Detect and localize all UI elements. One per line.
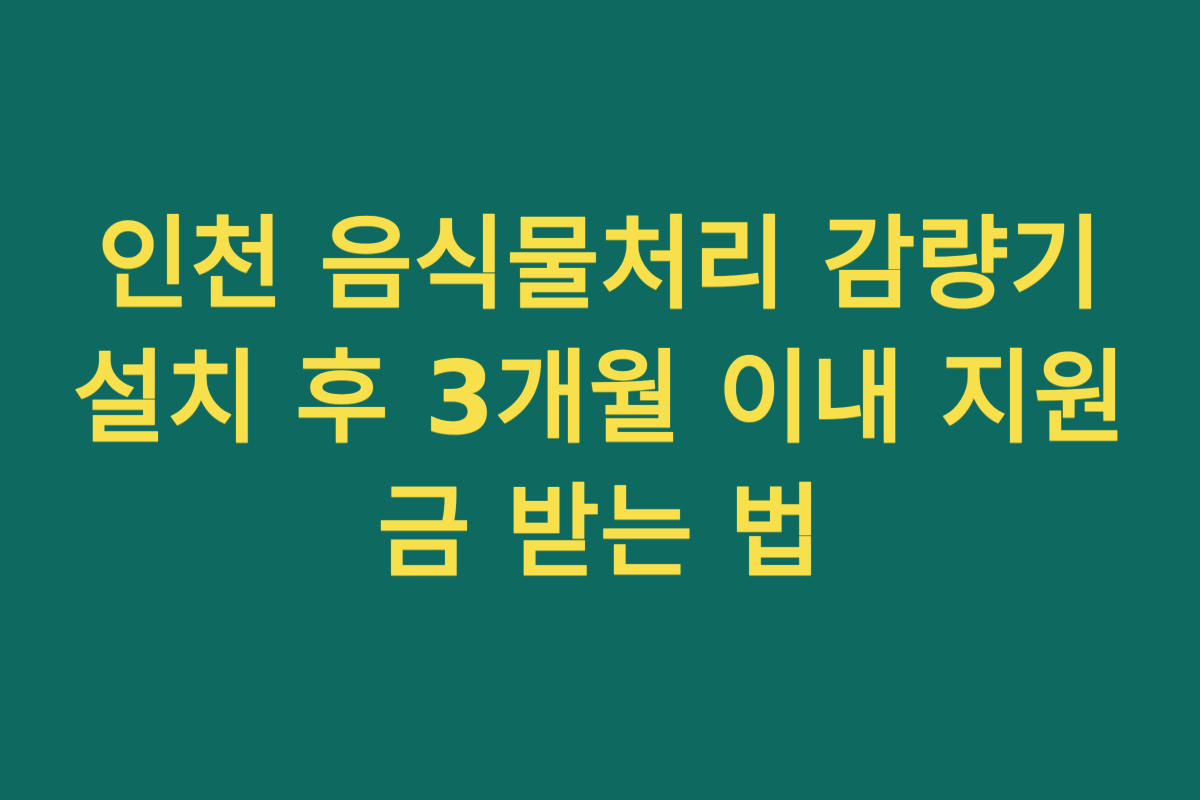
headline-line-1: 인천 음식물처리 감량기 (97, 197, 1103, 331)
thumbnail-card: 인천 음식물처리 감량기 설치 후 3개월 이내 지원 금 받는 법 (0, 0, 1200, 800)
headline-block: 인천 음식물처리 감량기 설치 후 3개월 이내 지원 금 받는 법 (60, 197, 1140, 600)
headline-line-2: 설치 후 3개월 이내 지원 (73, 331, 1127, 465)
headline-line-3: 금 받는 법 (377, 465, 822, 599)
